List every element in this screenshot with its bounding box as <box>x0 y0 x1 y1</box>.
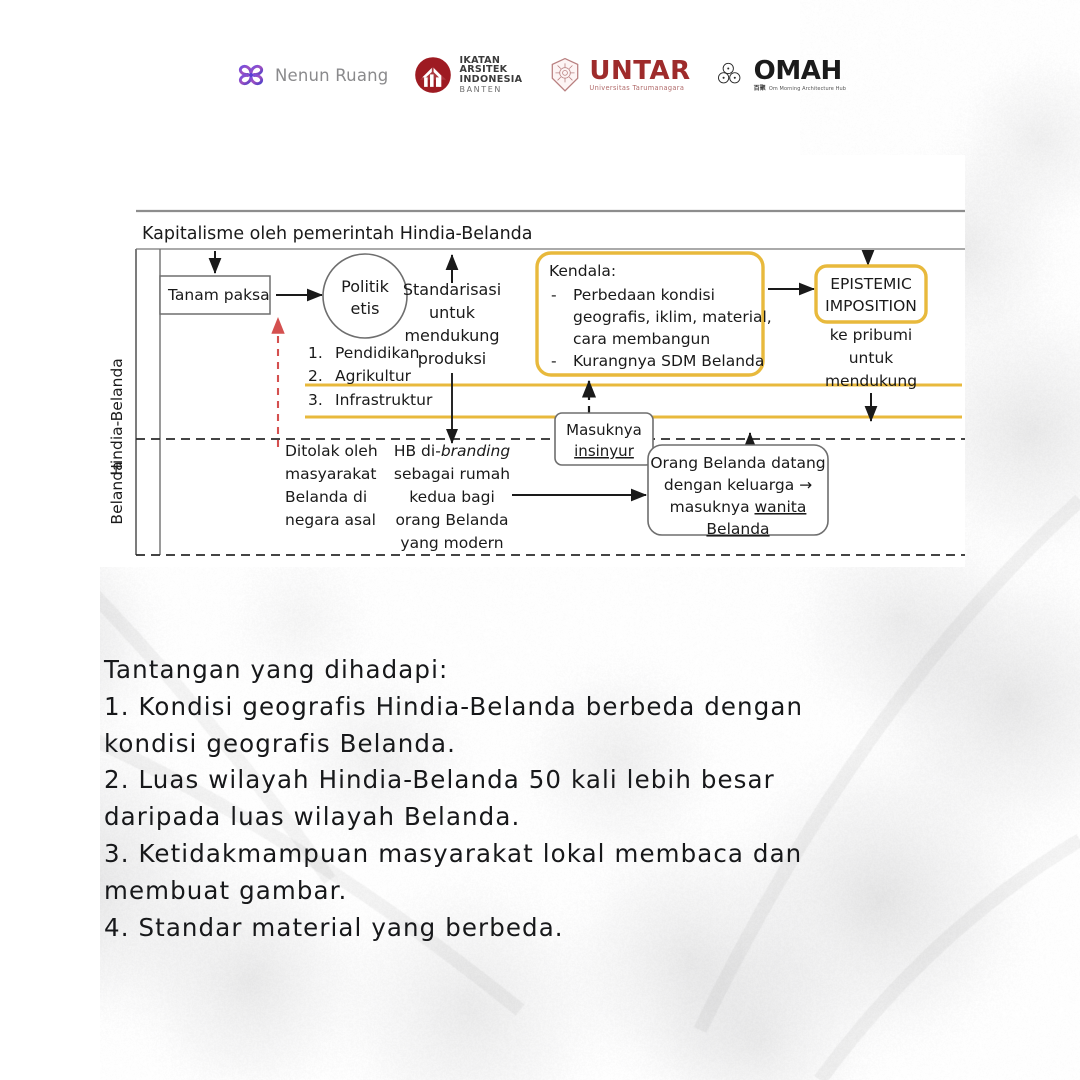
ditolak-line-2: masyarakat <box>285 465 377 483</box>
kendala-item-1-bullet: - <box>551 286 557 304</box>
orang-belanda-line-1: Orang Belanda datang <box>650 454 825 472</box>
diagram-card: Kapitalisme oleh pemerintah Hindia-Belan… <box>100 155 965 567</box>
epistemic-caption-2: untuk <box>849 349 894 367</box>
logo-omah: OMAH 百聚 Om Morning Architecture Hub <box>717 58 846 92</box>
lane-label-upper: Hindia-Belanda <box>108 358 126 476</box>
standarisasi-line-2: untuk <box>429 303 476 322</box>
omah-sub-cn: 百聚 <box>754 86 766 92</box>
omah-label: OMAH <box>754 58 846 84</box>
node-tanam-paksa-label: Tanam paksa <box>167 286 270 304</box>
kendala-item-1-line2: geografis, iklim, material, <box>573 308 772 326</box>
diagram-top-banner: Kapitalisme oleh pemerintah Hindia-Belan… <box>142 224 533 244</box>
logo-nenun-ruang: Nenun Ruang <box>234 58 389 92</box>
standarisasi-line-3: mendukung <box>404 326 499 345</box>
kendala-item-1-line3: cara membangun <box>573 330 710 348</box>
list-item-1-label: Pendidikan <box>335 344 419 362</box>
hb-branding-line-5: yang modern <box>400 534 503 552</box>
ditolak-line-3: Belanda di <box>285 488 367 506</box>
standarisasi-line-4: produksi <box>418 349 487 368</box>
nenun-ruang-label: Nenun Ruang <box>275 66 389 85</box>
orang-belanda-line-4: Belanda <box>706 520 769 538</box>
kendala-title: Kendala: <box>549 262 616 280</box>
list-item-2-number: 2. <box>308 367 323 385</box>
epistemic-caption-1: ke pribumi <box>830 326 912 344</box>
masuknya-insinyur-line-1: Masuknya <box>566 421 642 439</box>
ditolak-line-1: Ditolak oleh <box>285 442 378 460</box>
orang-belanda-line-3: masuknya wanita <box>670 498 807 516</box>
epistemic-line-1: EPISTEMIC <box>830 275 912 293</box>
standarisasi-line-1: Standarisasi <box>403 280 501 299</box>
omah-rings-icon <box>717 61 747 89</box>
epistemic-line-2: IMPOSITION <box>825 297 917 315</box>
hb-branding-line-3: kedua bagi <box>409 488 495 506</box>
logo-ikatan-arsitek-indonesia: IKATAN ARSITEK INDONESIA BANTEN <box>414 56 522 95</box>
nenun-ruang-icon <box>234 58 268 92</box>
list-item-2-label: Agrikultur <box>335 367 412 385</box>
node-politik-etis-circle[interactable] <box>323 254 407 338</box>
untar-crest-icon <box>548 57 582 93</box>
hb-branding-line-1: HB di-branding <box>394 442 510 460</box>
hb-branding-line-4: orang Belanda <box>395 511 508 529</box>
list-item-3-number: 3. <box>308 391 323 409</box>
kendala-item-1-line1: Perbedaan kondisi <box>573 286 715 304</box>
iai-line3: INDONESIA <box>459 75 522 85</box>
logo-untar: UNTAR Universitas Tarumanagara <box>548 57 690 93</box>
list-item-3-label: Infrastruktur <box>335 391 433 409</box>
kendala-item-2-bullet: - <box>551 352 557 370</box>
untar-sublabel: Universitas Tarumanagara <box>589 85 690 92</box>
omah-sublabel: Om Morning Architecture Hub <box>769 87 846 92</box>
node-politik-etis-line2: etis <box>351 299 380 318</box>
background-white-panel-left <box>0 0 100 1080</box>
untar-label: UNTAR <box>589 58 690 84</box>
lane-label-lower: Belanda <box>108 461 126 524</box>
kendala-item-2-line1: Kurangnya SDM Belanda <box>573 352 764 370</box>
iai-circle-icon <box>414 56 452 94</box>
orang-belanda-line-2: dengan keluarga → <box>664 476 812 494</box>
node-politik-etis-line1: Politik <box>341 277 389 296</box>
caption-text: Tantangan yang dihadapi: 1. Kondisi geog… <box>104 652 984 946</box>
list-item-1-number: 1. <box>308 344 323 362</box>
hb-branding-line-2: sebagai rumah <box>394 465 510 483</box>
iai-line4: BANTEN <box>459 86 522 94</box>
ditolak-line-4: negara asal <box>285 511 376 529</box>
epistemic-imposition-diagram: Kapitalisme oleh pemerintah Hindia-Belan… <box>100 155 965 567</box>
logo-strip: Nenun Ruang IKATAN ARSITEK INDONESIA BAN… <box>0 40 1080 110</box>
epistemic-caption-3: mendukung <box>825 372 917 390</box>
masuknya-insinyur-line-2: insinyur <box>574 442 635 460</box>
